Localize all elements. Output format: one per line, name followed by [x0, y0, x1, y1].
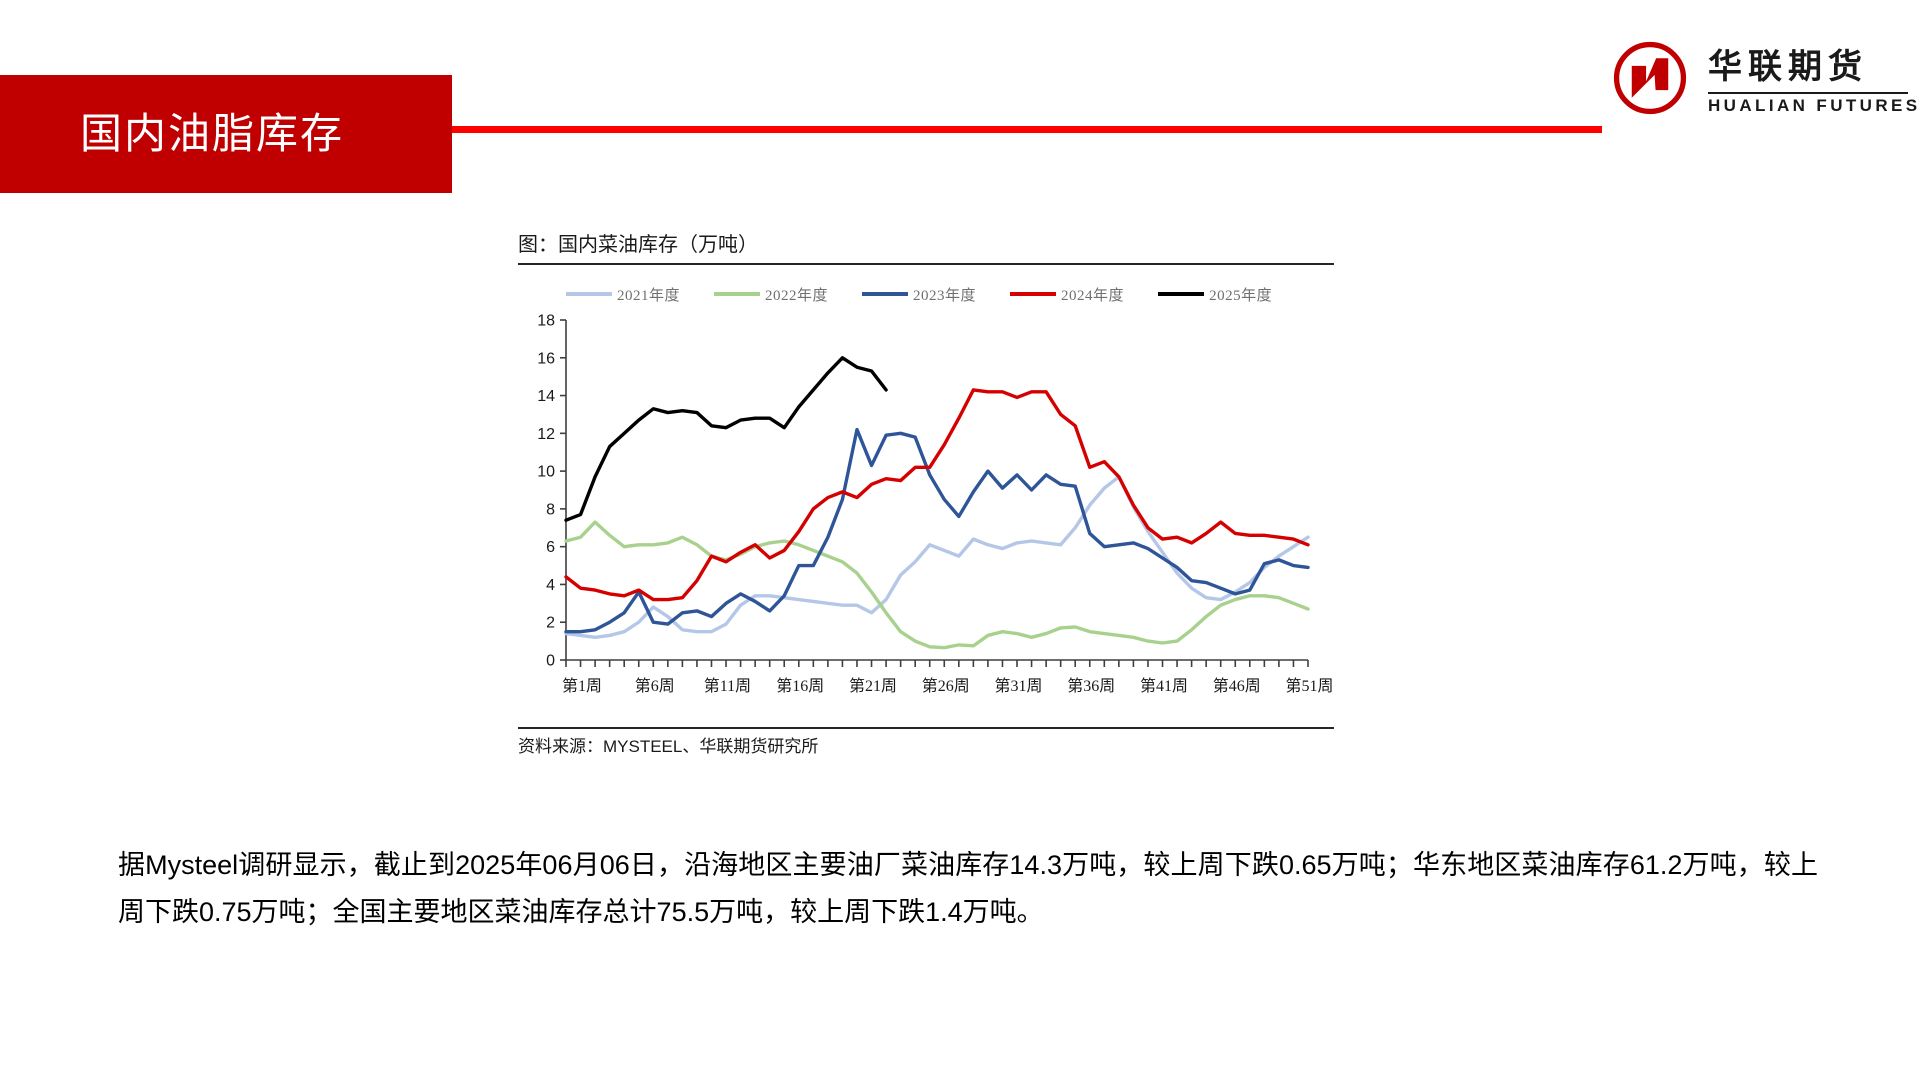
- figure-title: 图：国内菜油库存（万吨）: [518, 232, 758, 258]
- x-tick-label: 第11周: [704, 677, 751, 695]
- y-tick-label: 2: [546, 615, 555, 632]
- line-chart-svg: 024681012141618第1周第6周第11周第16周第21周第26周第31…: [518, 312, 1334, 712]
- legend-item[interactable]: 2021年度: [566, 284, 680, 305]
- hualian-n-mark-icon: [1612, 40, 1688, 116]
- y-tick-label: 0: [546, 653, 555, 670]
- legend-item[interactable]: 2025年度: [1158, 284, 1272, 305]
- brand-logo: 华联期货 HUALIAN FUTURES: [1612, 22, 1912, 122]
- y-tick-label: 6: [546, 539, 555, 556]
- x-tick-label: 第36周: [1067, 677, 1115, 695]
- legend-item[interactable]: 2023年度: [862, 284, 976, 305]
- x-tick-label: 第41周: [1140, 677, 1188, 695]
- header-accent-rule: [452, 126, 1602, 133]
- series-line-2023年度: [566, 430, 1308, 632]
- legend-item[interactable]: 2022年度: [714, 284, 828, 305]
- y-tick-label: 18: [537, 313, 555, 330]
- legend-item[interactable]: 2024年度: [1010, 284, 1124, 305]
- logo-divider: [1708, 92, 1908, 94]
- x-tick-label: 第6周: [635, 677, 675, 695]
- legend-swatch-icon: [862, 292, 908, 296]
- legend-swatch-icon: [1158, 292, 1204, 296]
- logo-name-en: HUALIAN FUTURES: [1708, 96, 1920, 116]
- chart-plot-area: 024681012141618第1周第6周第11周第16周第21周第26周第31…: [518, 312, 1334, 712]
- x-tick-label: 第51周: [1285, 677, 1333, 695]
- x-tick-label: 第46周: [1213, 677, 1261, 695]
- chart-legend: 2021年度2022年度2023年度2024年度2025年度: [566, 282, 1316, 306]
- series-line-2021年度: [566, 477, 1308, 638]
- legend-label: 2021年度: [617, 284, 680, 305]
- legend-swatch-icon: [1010, 292, 1056, 296]
- legend-label: 2025年度: [1209, 284, 1272, 305]
- figure-title-rule: [518, 263, 1334, 265]
- figure-source-note: 资料来源：MYSTEEL、华联期货研究所: [518, 735, 818, 759]
- logo-name-cn: 华联期货: [1708, 48, 1868, 86]
- x-tick-label: 第16周: [776, 677, 824, 695]
- series-line-2025年度: [566, 358, 886, 520]
- y-tick-label: 8: [546, 501, 555, 518]
- y-tick-label: 14: [537, 388, 555, 405]
- legend-label: 2024年度: [1061, 284, 1124, 305]
- page-title: 国内油脂库存: [80, 110, 344, 158]
- x-tick-label: 第26周: [922, 677, 970, 695]
- legend-label: 2023年度: [913, 284, 976, 305]
- body-paragraph: 据Mysteel调研显示，截止到2025年06月06日，沿海地区主要油厂菜油库存…: [118, 842, 1818, 936]
- x-tick-label: 第1周: [562, 677, 602, 695]
- figure-source-rule: [518, 727, 1334, 729]
- series-line-2024年度: [566, 390, 1308, 600]
- y-tick-label: 4: [546, 577, 555, 594]
- figure-container: 图：国内菜油库存（万吨） 2021年度2022年度2023年度2024年度202…: [518, 232, 1334, 777]
- y-tick-label: 12: [537, 426, 555, 443]
- x-tick-label: 第31周: [994, 677, 1042, 695]
- y-tick-label: 10: [537, 464, 555, 481]
- legend-swatch-icon: [566, 292, 612, 296]
- x-tick-label: 第21周: [849, 677, 897, 695]
- y-tick-label: 16: [537, 350, 555, 367]
- legend-label: 2022年度: [765, 284, 828, 305]
- legend-swatch-icon: [714, 292, 760, 296]
